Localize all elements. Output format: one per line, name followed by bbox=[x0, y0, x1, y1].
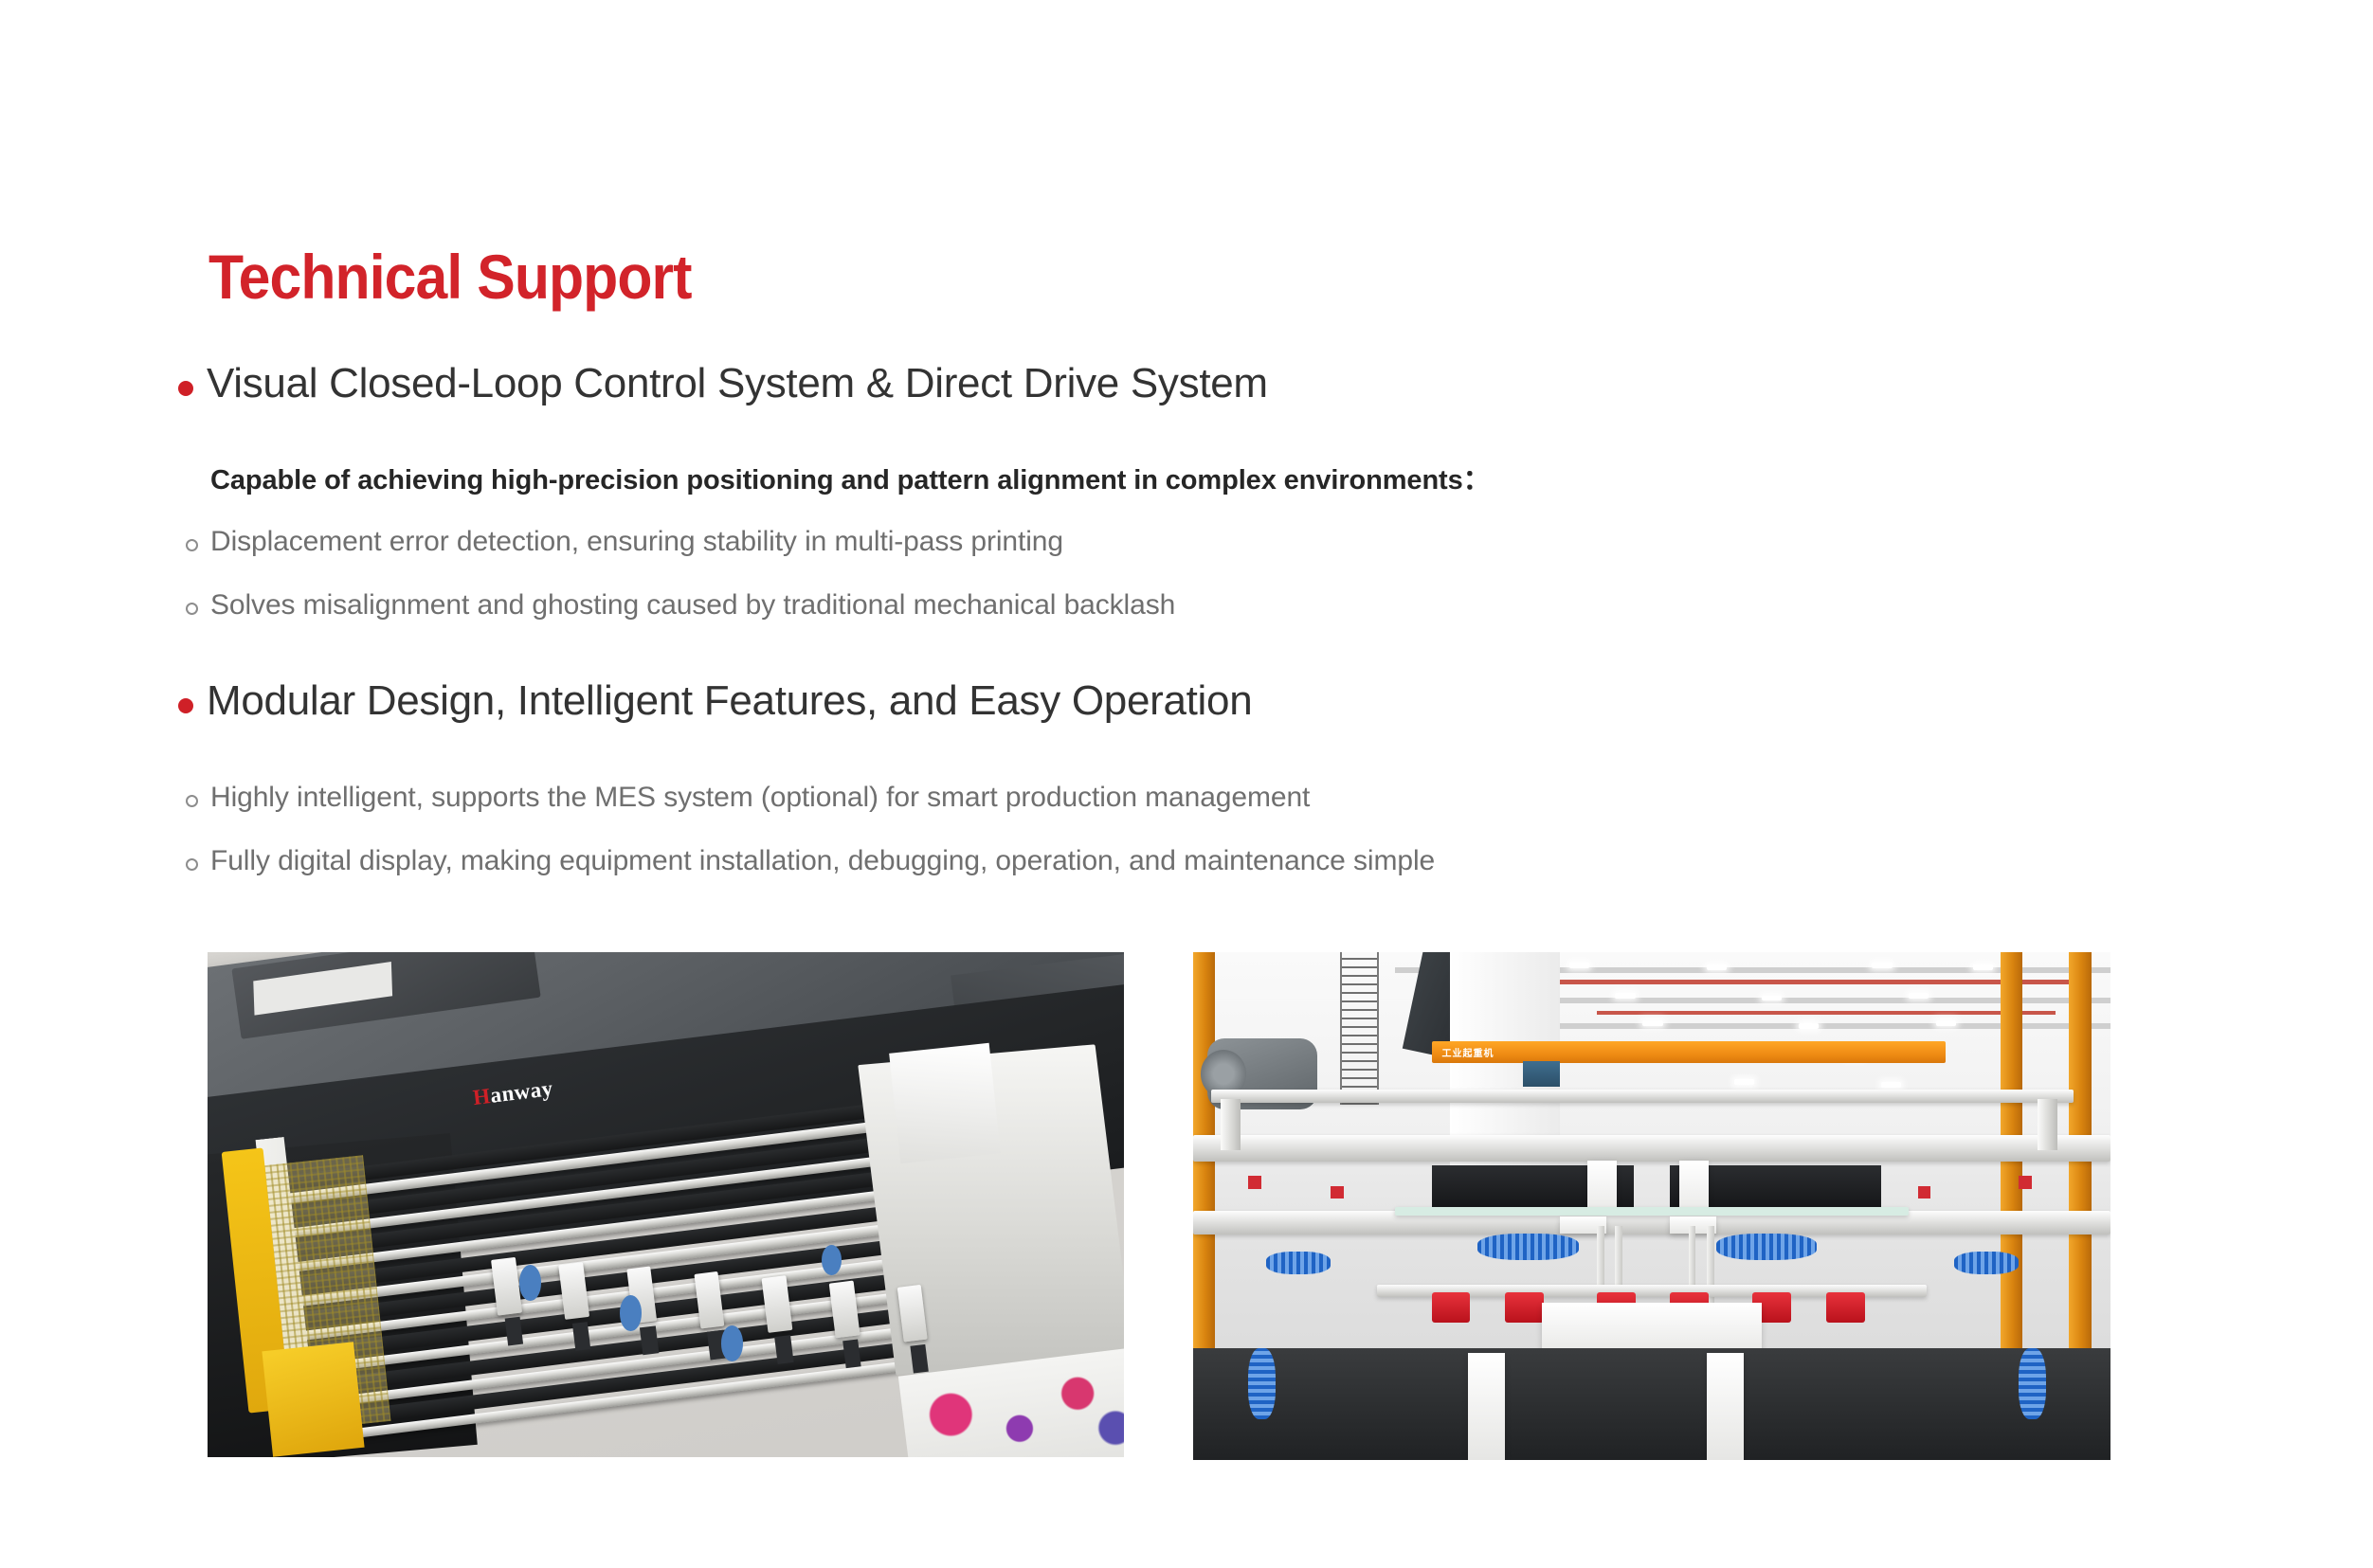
sub-bullet-text: Displacement error detection, ensuring s… bbox=[210, 523, 1063, 560]
hanway-printing-press-photo: Hanway bbox=[208, 952, 1124, 1457]
red-roller bbox=[1432, 1292, 1471, 1323]
section-1-sub-1: Displacement error detection, ensuring s… bbox=[178, 523, 2263, 560]
section-2-sub-1: Highly intelligent, supports the MES sys… bbox=[178, 779, 2263, 816]
coiled-air-hose bbox=[1266, 1252, 1331, 1274]
coiled-air-hose bbox=[1716, 1234, 1817, 1260]
sub-bullet-row: Displacement error detection, ensuring s… bbox=[186, 523, 2263, 560]
page-title: Technical Support bbox=[208, 244, 692, 310]
overhead-crane: 工业起重机 bbox=[1432, 1041, 1946, 1064]
section-1-sub-2: Solves misalignment and ghosting caused … bbox=[178, 586, 2263, 623]
sub-bullet-text: Highly intelligent, supports the MES sys… bbox=[210, 779, 1310, 816]
main-bullet-row: Modular Design, Intelligent Features, an… bbox=[178, 676, 2263, 727]
red-dot-bullet-icon bbox=[178, 698, 193, 713]
coiled-air-hose bbox=[1954, 1252, 2019, 1274]
main-bullet-row: Visual Closed-Loop Control System & Dire… bbox=[178, 358, 2263, 409]
hollow-circle-bullet-icon bbox=[186, 539, 198, 551]
sub-bullet-row: Fully digital display, making equipment … bbox=[186, 842, 2263, 879]
section-modular-design: Modular Design, Intelligent Features, an… bbox=[178, 676, 2263, 727]
slide-root: Technical Support Visual Closed-Loop Con… bbox=[0, 0, 2373, 1568]
crane-label: 工业起重机 bbox=[1442, 1045, 1494, 1059]
red-roller bbox=[1505, 1292, 1544, 1323]
red-roller bbox=[1826, 1292, 1865, 1323]
coiled-air-hose bbox=[1477, 1234, 1578, 1260]
section-heading: Modular Design, Intelligent Features, an… bbox=[207, 676, 1252, 727]
section-heading: Visual Closed-Loop Control System & Dire… bbox=[207, 358, 1268, 409]
section-emphasis-text: Capable of achieving high-precision posi… bbox=[210, 458, 2263, 497]
hollow-circle-bullet-icon bbox=[186, 603, 198, 615]
sub-bullet-row: Highly intelligent, supports the MES sys… bbox=[186, 779, 2263, 816]
sub-bullet-text: Fully digital display, making equipment … bbox=[210, 842, 1435, 879]
red-dot-bullet-icon bbox=[178, 381, 193, 396]
sub-bullet-text: Solves misalignment and ghosting caused … bbox=[210, 586, 1175, 623]
section-1-emphasis-wrap: Capable of achieving high-precision posi… bbox=[178, 458, 2263, 497]
section-2-sub-2: Fully digital display, making equipment … bbox=[178, 842, 2263, 879]
sub-bullet-row: Solves misalignment and ghosting caused … bbox=[186, 586, 2263, 623]
factory-gantry-line-photo: 工业起重机 bbox=[1193, 952, 2110, 1460]
hollow-circle-bullet-icon bbox=[186, 858, 198, 871]
section-visual-closed-loop: Visual Closed-Loop Control System & Dire… bbox=[178, 358, 2263, 409]
hollow-circle-bullet-icon bbox=[186, 795, 198, 807]
